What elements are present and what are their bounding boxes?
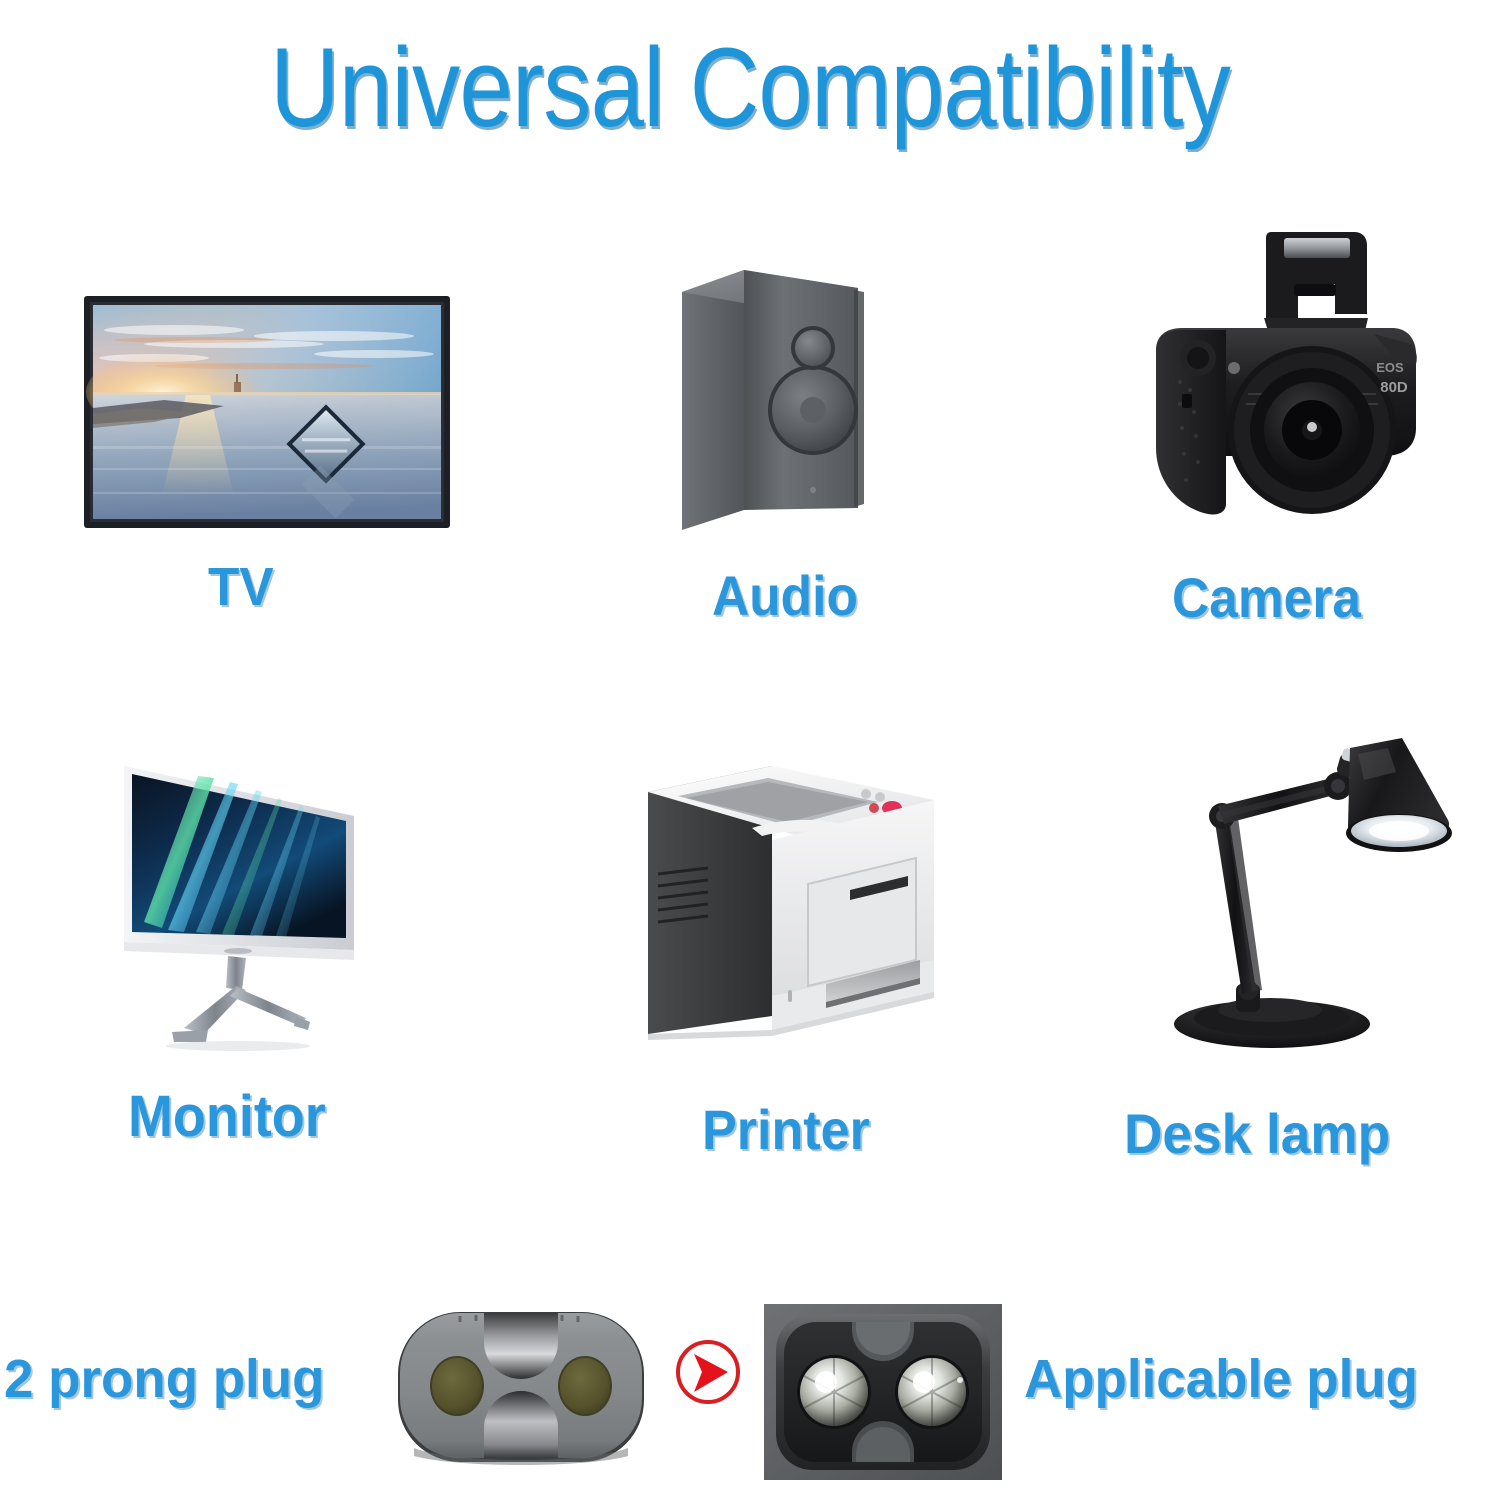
- right-arrow-circle-icon: [672, 1336, 744, 1408]
- television-icon: [84, 296, 450, 528]
- laser-printer-icon: [612, 744, 948, 1058]
- plug-target-label: Applicable plug: [1024, 1352, 1418, 1406]
- applicable-socket-icon: [764, 1304, 1002, 1480]
- device-label-monitor: Monitor: [128, 1088, 326, 1146]
- plug-source-label: 2 prong plug: [4, 1352, 324, 1406]
- desk-lamp-icon: [1152, 732, 1468, 1058]
- camera-brand-text: EOS: [1376, 360, 1404, 375]
- device-label-tv: TV: [208, 560, 274, 614]
- dslr-camera-icon: EOS 80D: [1122, 222, 1442, 522]
- device-label-audio: Audio: [712, 568, 858, 624]
- infographic-canvas: Universal Compatibility: [0, 0, 1500, 1500]
- device-label-camera: Camera: [1172, 570, 1361, 626]
- speaker-icon: [658, 252, 888, 534]
- page-title: Universal Compatibility: [105, 32, 1395, 144]
- computer-monitor-icon: [110, 742, 410, 1060]
- device-label-printer: Printer: [702, 1102, 870, 1158]
- device-label-desklamp: Desk lamp: [1124, 1106, 1390, 1162]
- two-prong-plug-icon: [396, 1308, 646, 1468]
- camera-model-text: 80D: [1380, 379, 1408, 396]
